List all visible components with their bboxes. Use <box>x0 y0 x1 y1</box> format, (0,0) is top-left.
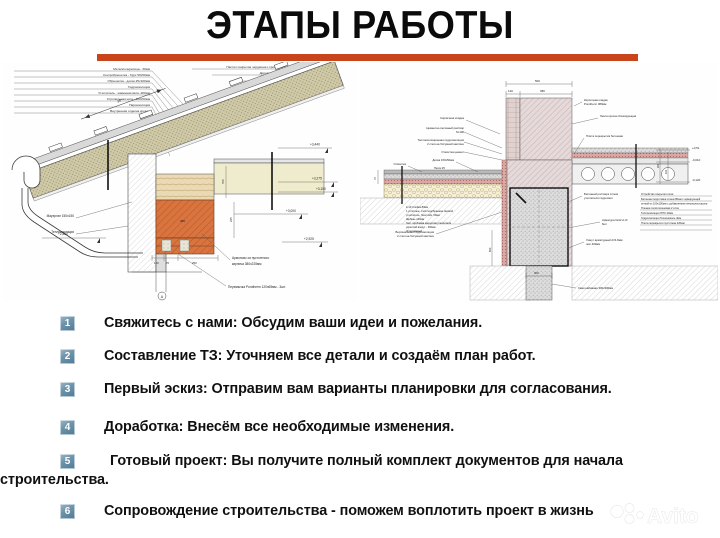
svg-text:6шт: 6шт <box>602 222 608 226</box>
svg-text:Устройство покрытия пола:: Устройство покрытия пола: <box>641 192 674 196</box>
svg-text:250: 250 <box>192 261 197 265</box>
svg-text:Металлочерепица - 30мм: Металлочерепица - 30мм <box>113 67 150 71</box>
step-item-5: 5 Готовый проект: Вы получите полный ком… <box>60 452 700 490</box>
svg-text:Лента кросно-блокирующая: Лента кросно-блокирующая <box>600 114 637 118</box>
svg-text:Свая набивная 300х300мм: Свая набивная 300х300мм <box>578 286 613 290</box>
svg-text:Пароизоляция: Пароизоляция <box>129 103 150 107</box>
page-title: ЭТАПЫ РАБОТЫ <box>25 4 695 48</box>
foundation-svg: 500 120 380 <box>360 62 718 302</box>
svg-text:70: 70 <box>166 261 170 265</box>
svg-text:Плита перекрытия бетонная: Плита перекрытия бетонная <box>586 134 623 138</box>
svg-text:Гидроизоляция Технониколь 3мм: Гидроизоляция Технониколь 3мм <box>641 216 681 220</box>
svg-text:+3,150: +3,150 <box>316 187 326 191</box>
svg-text:Армопояс из пустотелого: Армопояс из пустотелого <box>232 256 270 260</box>
svg-text:100: 100 <box>665 169 668 174</box>
svg-text:Плита перекрытия пустотная 220: Плита перекрытия пустотная 220мм <box>641 221 685 225</box>
step-number-badge-1: 1 <box>60 316 75 331</box>
svg-text:Доска 150х50мм: Доска 150х50мм <box>432 158 454 162</box>
svg-text:Porotherm 380мм: Porotherm 380мм <box>584 102 606 106</box>
drawings-strip: Металлочерепица - 30мм Контробрешетка - … <box>0 62 720 302</box>
svg-text:сеткой из 100х100мм с добавлен: сеткой из 100х100мм с добавлением пенопо… <box>641 202 708 206</box>
svg-text:+3,000: +3,000 <box>286 209 296 213</box>
step-text-6: Сопровождение строительства - поможем во… <box>104 502 700 521</box>
svg-text:Бетонная подготовка слоем 80мм: Бетонная подготовка слоем 80мм с армирую… <box>641 197 701 201</box>
svg-text:Перемычка Porotherm 120х65мм -: Перемычка Porotherm 120х65мм - 3шт. <box>228 285 286 289</box>
svg-text:Кирпичная кладка: Кирпичная кладка <box>440 116 464 120</box>
roof-eaves-drawing: Металлочерепица - 30мм Контробрешетка - … <box>2 62 358 302</box>
svg-text:Обрешетка - доска 25х100мм: Обрешетка - доска 25х100мм <box>107 79 150 83</box>
step-text-5: Готовый проект: Вы получите полный компл… <box>60 452 700 490</box>
step-number-badge-4: 4 <box>60 420 75 435</box>
svg-text:+0,51: +0,51 <box>692 146 700 150</box>
steps-list: 1 Свяжитесь с нами: Обсудим ваши идеи и … <box>0 306 720 538</box>
svg-text:кирпича 380х225мм: кирпича 380х225мм <box>232 262 261 266</box>
step-number-badge-5: 5 <box>60 454 75 469</box>
step-number-badge-6: 6 <box>60 504 75 519</box>
svg-text:Пленка полиэтиленовая 2 слоя: Пленка полиэтиленовая 2 слоя <box>641 206 679 210</box>
svg-text:Контробрешетка - брус 50х50мм: Контробрешетка - брус 50х50мм <box>103 73 150 77</box>
step-text-1: Свяжитесь с нами: Обсудим ваши идеи и по… <box>104 314 700 333</box>
svg-text:500: 500 <box>535 79 540 83</box>
svg-text:200: 200 <box>657 163 660 168</box>
svg-text:1 уплотнен. слой подобранная с: 1 уплотнен. слой подобранная связкой <box>406 209 454 213</box>
svg-text:К-10 Слойка 80мм: К-10 Слойка 80мм <box>406 205 428 209</box>
svg-text:380: 380 <box>540 89 545 93</box>
svg-text:утеплителя гидроизол: утеплителя гидроизол <box>584 196 613 200</box>
step-text-5-line2: строительства. <box>0 471 700 490</box>
step-number-badge-2: 2 <box>60 349 75 364</box>
svg-text:225: 225 <box>229 217 233 222</box>
svg-text:Теплоизоляция ППС 20мм: Теплоизоляция ППС 20мм <box>641 211 673 215</box>
step-text-3: Первый эскиз: Отправим вам варианты план… <box>104 380 700 399</box>
step-item-4: 4 Доработка: Внесём все необходимые изме… <box>60 418 700 437</box>
step-text-2: Составление ТЗ: Уточняем все детали и со… <box>104 347 700 366</box>
svg-text:Гидроизоляция: Гидроизоляция <box>128 85 150 89</box>
svg-text:600: 600 <box>488 247 492 252</box>
svg-text:+2,925: +2,925 <box>304 237 314 241</box>
step-item-2: 2 Составление ТЗ: Уточняем все детали и … <box>60 347 700 366</box>
svg-text:Стропильная нога - 200х50мм: Стропильная нога - 200х50мм <box>107 97 150 101</box>
svg-text:380: 380 <box>180 219 185 223</box>
title-underline-rule <box>97 54 638 61</box>
svg-text:Утеплитель - каменная вата -20: Утеплитель - каменная вата -200мм <box>98 91 150 95</box>
svg-text:Геот. проблема загрунтов утепл: Геот. проблема загрунтов утеплителя <box>406 221 452 225</box>
svg-text:-0,010: -0,010 <box>692 158 701 162</box>
svg-text:+3,440: +3,440 <box>310 143 320 147</box>
svg-text:Теплоизоляция: Теплоизоляция <box>51 230 74 234</box>
svg-text:Отмостка: Отмостка <box>394 162 407 166</box>
svg-text:2 слоя на битумной мастике: 2 слоя на битумной мастике <box>427 142 464 146</box>
header: ЭТАПЫ РАБОТЫ <box>0 0 720 68</box>
svg-text:М-100: М-100 <box>456 130 464 134</box>
svg-text:2 слоя на битумной мастике: 2 слоя на битумной мастике <box>397 234 434 238</box>
step-item-3: 3 Первый эскиз: Отправим вам варианты пл… <box>60 380 700 399</box>
svg-text:120: 120 <box>508 89 513 93</box>
foundation-drawing: 500 120 380 <box>360 62 718 302</box>
svg-text:-0,120: -0,120 <box>692 178 701 182</box>
step-text-4: Доработка: Внесём все необходимые измене… <box>104 418 700 437</box>
svg-text:120: 120 <box>154 261 159 265</box>
svg-text:утеплитель, биостойк. 50мм: утеплитель, биостойк. 50мм <box>406 213 440 217</box>
svg-text:300: 300 <box>534 271 539 275</box>
svg-text:Отмостка цемент: Отмостка цемент <box>441 150 464 154</box>
step-item-6: 6 Сопровождение строительства - поможем … <box>60 502 700 521</box>
svg-text:Мауэрлат 150х150: Мауэрлат 150х150 <box>47 214 75 218</box>
step-number-badge-3: 3 <box>60 382 75 397</box>
svg-text:укрепляй вокруг - 300мм: укрепляй вокруг - 300мм <box>406 225 436 229</box>
roof-eaves-svg: Металлочерепица - 30мм Контробрешетка - … <box>2 62 358 302</box>
step-item-1: 1 Свяжитесь с нами: Обсудим ваши идеи и … <box>60 314 700 333</box>
svg-text:700: 700 <box>221 179 225 184</box>
svg-text:Уплотнённый: Уплотнённый <box>406 229 423 233</box>
svg-text:Щебень 100мм: Щебень 100мм <box>406 217 424 221</box>
svg-text:+3,275: +3,275 <box>312 177 322 181</box>
svg-text:шаг 400мм: шаг 400мм <box>586 242 600 246</box>
svg-text:Песок 25: Песок 25 <box>434 166 445 170</box>
step-text-5-line1: Готовый проект: Вы получите полный компл… <box>60 452 700 471</box>
